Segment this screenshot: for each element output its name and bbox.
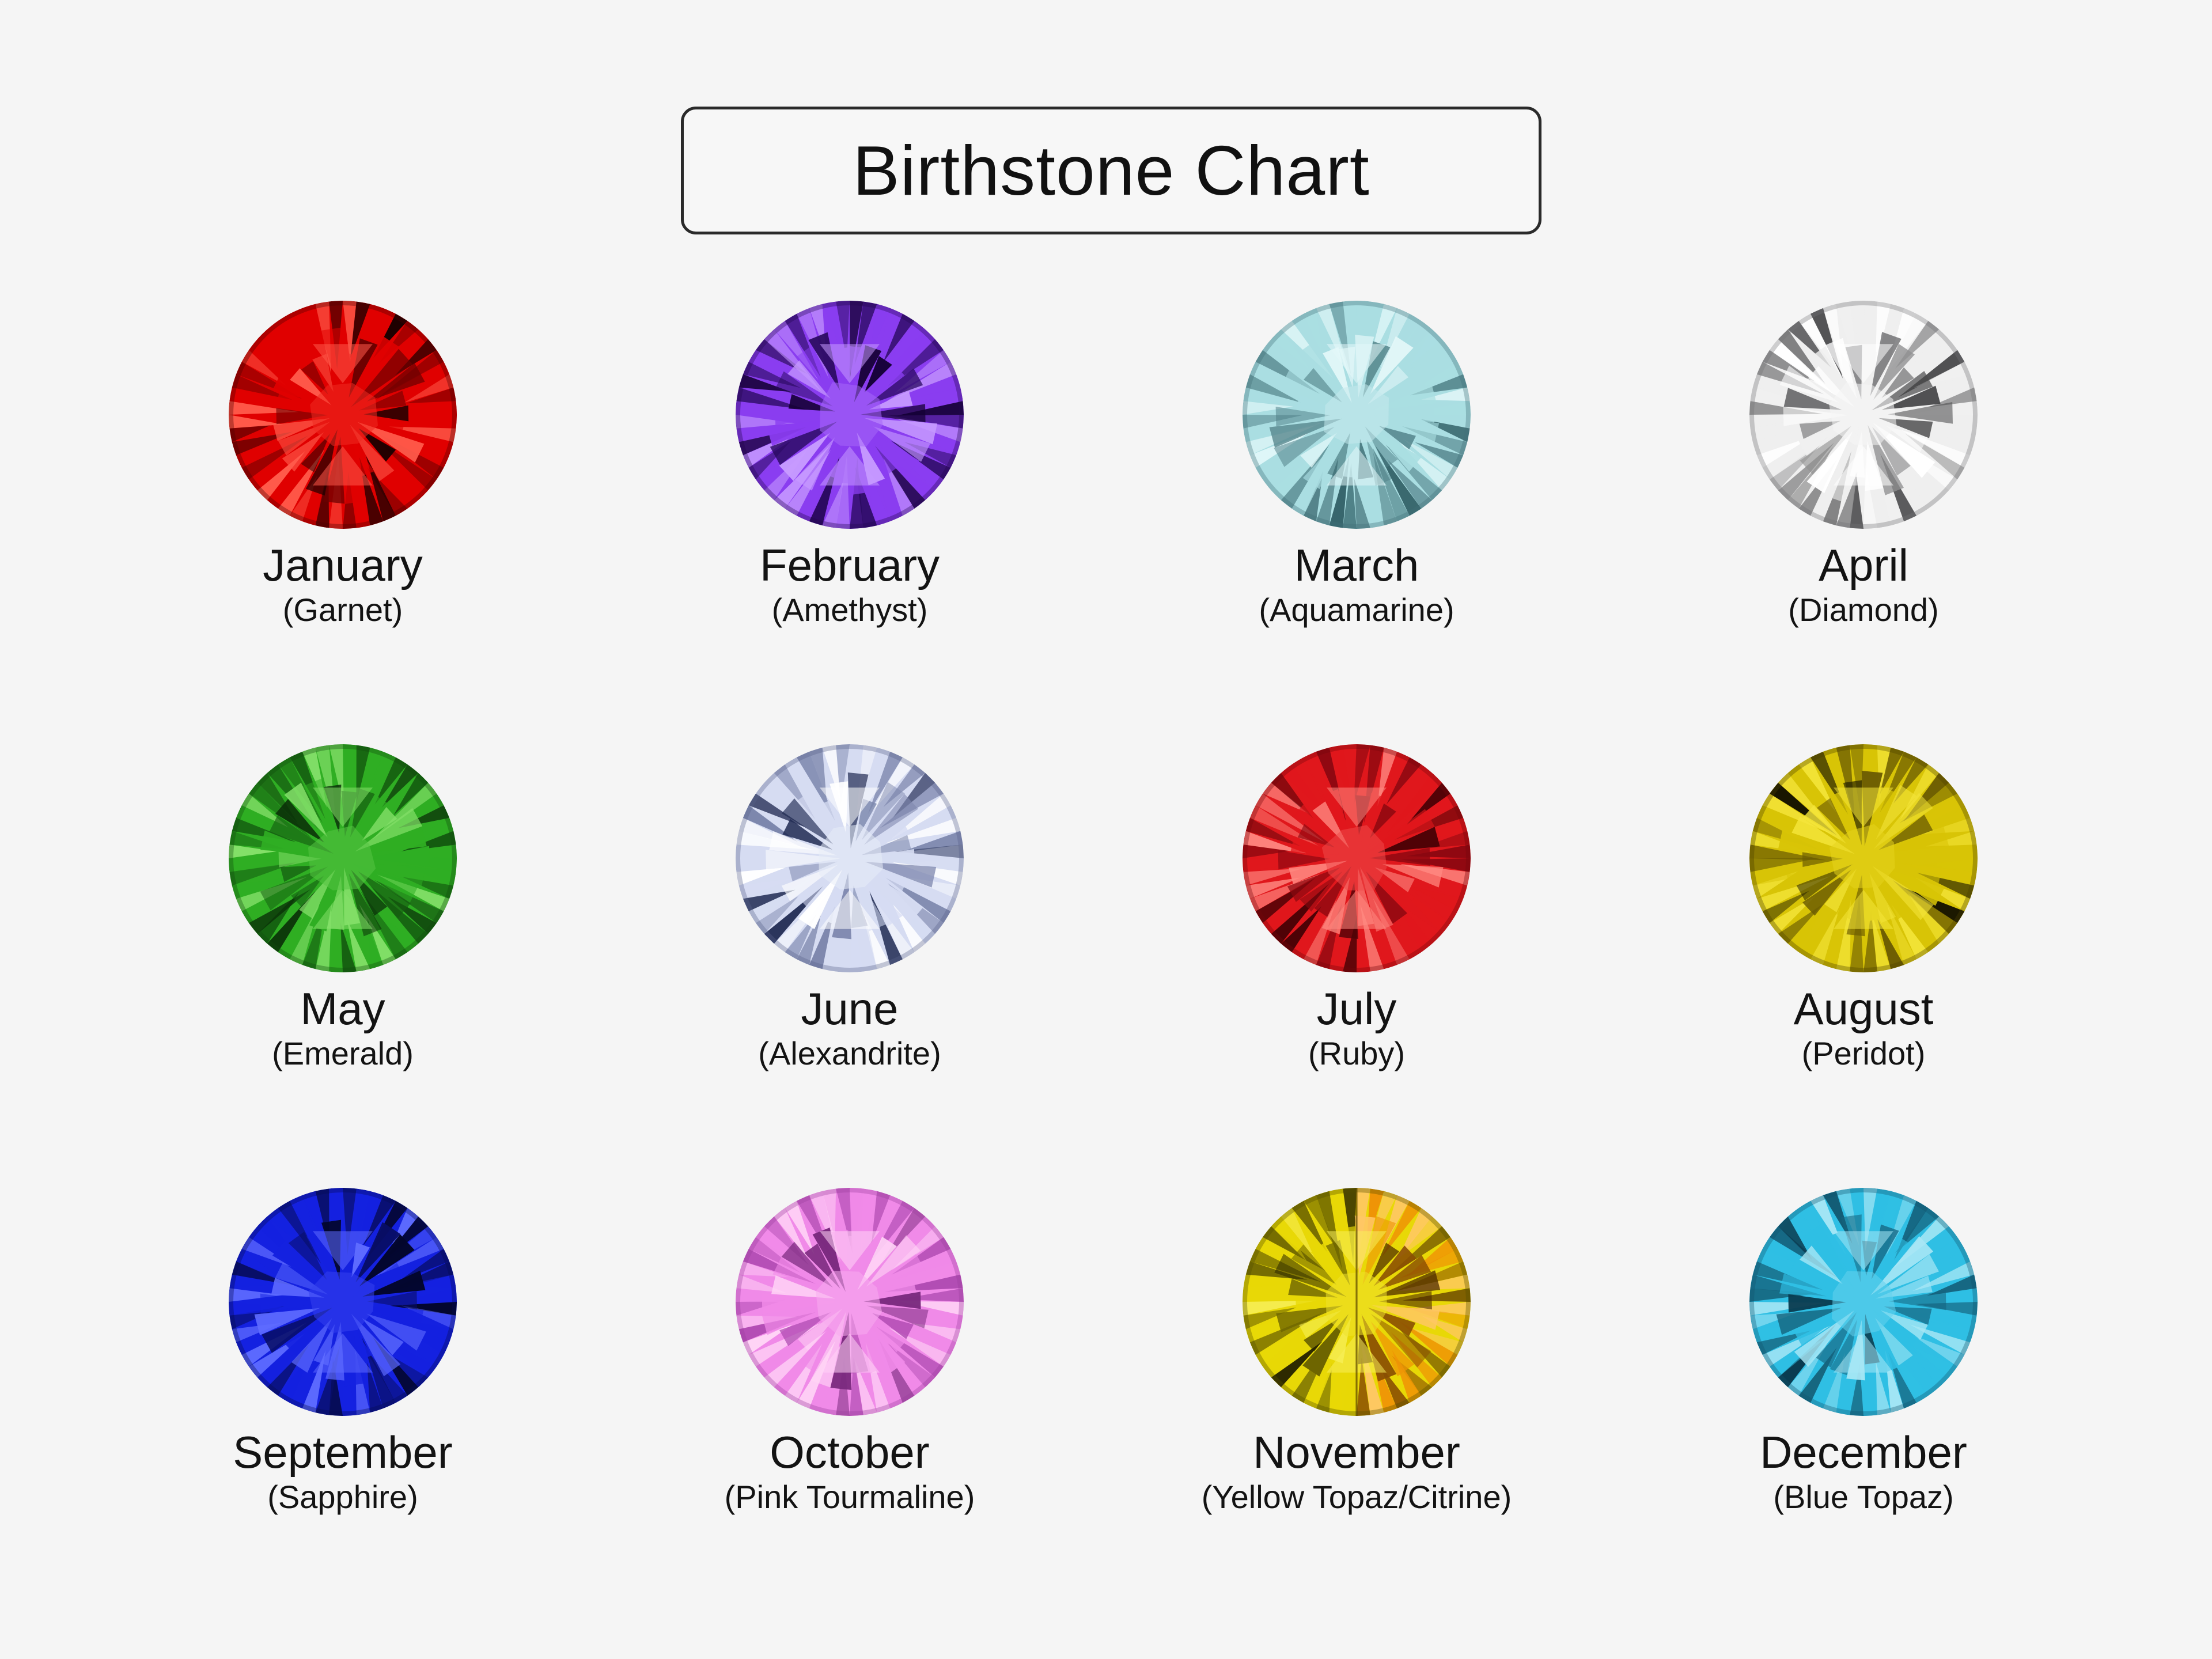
birthstone-cell-september[interactable]: September(Sapphire) (89, 1187, 596, 1514)
gemstone-icon (228, 743, 458, 974)
gemstone-icon (1748, 743, 1979, 974)
birthstone-cell-july[interactable]: July(Ruby) (1103, 743, 1610, 1070)
birthstone-cell-november[interactable]: November(Yellow Topaz/Citrine) (1103, 1187, 1610, 1514)
month-label: March (1103, 543, 1610, 589)
month-label: November (1103, 1430, 1610, 1476)
gemstone-icon (1241, 300, 1472, 530)
month-label: April (1610, 543, 2117, 589)
month-label: January (89, 543, 596, 589)
gemstone-icon (1748, 300, 1979, 530)
month-label: August (1610, 986, 2117, 1032)
stone-label: (Garnet) (89, 593, 596, 627)
birthstone-cell-october[interactable]: October(Pink Tourmaline) (596, 1187, 1103, 1514)
birthstone-row: May(Emerald)June(Alexandrite)July(Ruby)A… (0, 743, 2212, 1187)
birthstone-cell-december[interactable]: December(Blue Topaz) (1610, 1187, 2117, 1514)
birthstone-grid: January(Garnet)February(Amethyst)March(A… (0, 300, 2212, 1630)
gemstone-icon (1241, 743, 1472, 974)
month-label: December (1610, 1430, 2117, 1476)
month-label: July (1103, 986, 1610, 1032)
month-label: June (596, 986, 1103, 1032)
month-label: May (89, 986, 596, 1032)
stone-label: (Emerald) (89, 1037, 596, 1071)
birthstone-row: January(Garnet)February(Amethyst)March(A… (0, 300, 2212, 743)
birthstone-row: September(Sapphire)October(Pink Tourmali… (0, 1187, 2212, 1630)
gemstone-icon (228, 1187, 458, 1417)
stone-label: (Sapphire) (89, 1480, 596, 1514)
gemstone-icon (734, 743, 965, 974)
gemstone-icon (734, 300, 965, 530)
stone-label: (Diamond) (1610, 593, 2117, 627)
page-title: Birthstone Chart (853, 135, 1370, 206)
page-title-box: Birthstone Chart (681, 107, 1541, 234)
month-label: February (596, 543, 1103, 589)
stone-label: (Peridot) (1610, 1037, 2117, 1071)
gemstone-icon (1241, 1187, 1472, 1417)
stone-label: (Alexandrite) (596, 1037, 1103, 1071)
month-label: October (596, 1430, 1103, 1476)
birthstone-cell-march[interactable]: March(Aquamarine) (1103, 300, 1610, 627)
month-label: September (89, 1430, 596, 1476)
stone-label: (Amethyst) (596, 593, 1103, 627)
gemstone-icon (734, 1187, 965, 1417)
stone-label: (Ruby) (1103, 1037, 1610, 1071)
stone-label: (Blue Topaz) (1610, 1480, 2117, 1514)
birthstone-cell-february[interactable]: February(Amethyst) (596, 300, 1103, 627)
birthstone-cell-april[interactable]: April(Diamond) (1610, 300, 2117, 627)
birthstone-cell-june[interactable]: June(Alexandrite) (596, 743, 1103, 1070)
birthstone-cell-january[interactable]: January(Garnet) (89, 300, 596, 627)
birthstone-cell-may[interactable]: May(Emerald) (89, 743, 596, 1070)
gemstone-icon (228, 300, 458, 530)
birthstone-cell-august[interactable]: August(Peridot) (1610, 743, 2117, 1070)
gemstone-icon (1748, 1187, 1979, 1417)
stone-label: (Yellow Topaz/Citrine) (1103, 1480, 1610, 1514)
stone-label: (Aquamarine) (1103, 593, 1610, 627)
stone-label: (Pink Tourmaline) (596, 1480, 1103, 1514)
